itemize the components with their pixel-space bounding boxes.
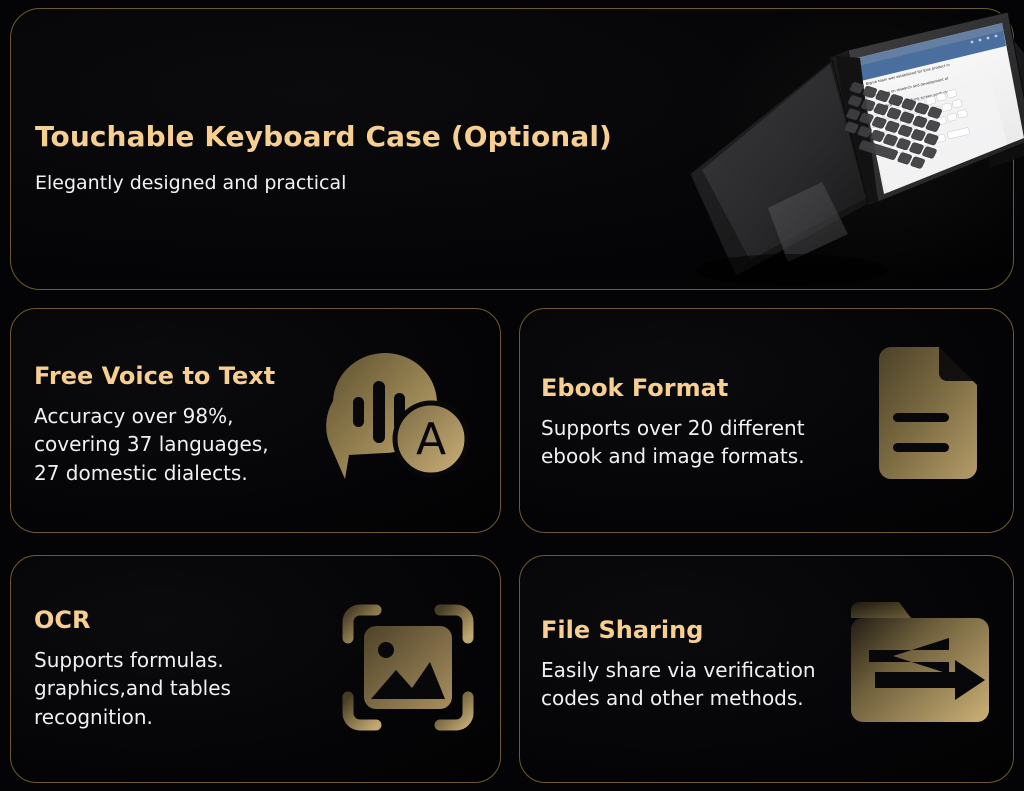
- scan-image-icon: [338, 600, 478, 735]
- hero-subtitle: Elegantly designed and practical: [35, 172, 346, 194]
- feature-card-free-voice-to-text[interactable]: Free Voice to Text Accuracy over 98%, co…: [10, 308, 501, 533]
- feature-card-ocr[interactable]: OCR Supports formulas. graphics,and tabl…: [10, 555, 501, 783]
- feature-body: Easily share via verification codes and …: [541, 656, 816, 713]
- feature-grid-page: Touchable Keyboard Case (Optional) Elega…: [0, 0, 1024, 791]
- feature-body-line: recognition.: [34, 703, 231, 731]
- feature-body-line: Easily share via verification: [541, 656, 816, 684]
- feature-body-line: Supports formulas.: [34, 646, 231, 674]
- feature-card-ebook-format[interactable]: Ebook Format Supports over 20 different …: [519, 308, 1014, 533]
- feature-title: Free Voice to Text: [34, 362, 275, 390]
- feature-card-keyboard-case[interactable]: Touchable Keyboard Case (Optional) Elega…: [10, 8, 1014, 290]
- feature-body-line: Supports over 20 different: [541, 414, 805, 442]
- feature-body: Supports over 20 different ebook and ima…: [541, 414, 805, 471]
- feature-body-line: graphics,and tables: [34, 674, 231, 702]
- feature-title: File Sharing: [541, 616, 703, 644]
- feature-body-line: codes and other methods.: [541, 684, 816, 712]
- feature-body-line: ebook and image formats.: [541, 442, 805, 470]
- feature-body: Supports formulas. graphics,and tables r…: [34, 646, 231, 731]
- feature-body-line: covering 37 languages,: [34, 430, 269, 458]
- feature-body: Accuracy over 98%, covering 37 languages…: [34, 402, 269, 487]
- feature-title: Ebook Format: [541, 374, 728, 402]
- folder-transfer-icon: [845, 594, 995, 734]
- voice-icon-letter: A: [416, 414, 446, 465]
- feature-body-line: 27 domestic dialects.: [34, 459, 269, 487]
- feature-body-line: Accuracy over 98%,: [34, 402, 269, 430]
- document-icon: [871, 343, 991, 493]
- feature-title: OCR: [34, 606, 91, 634]
- hero-title: Touchable Keyboard Case (Optional): [35, 120, 612, 153]
- voice-bubble-icon: A: [315, 347, 485, 497]
- feature-card-file-sharing[interactable]: File Sharing Easily share via verificati…: [519, 555, 1014, 783]
